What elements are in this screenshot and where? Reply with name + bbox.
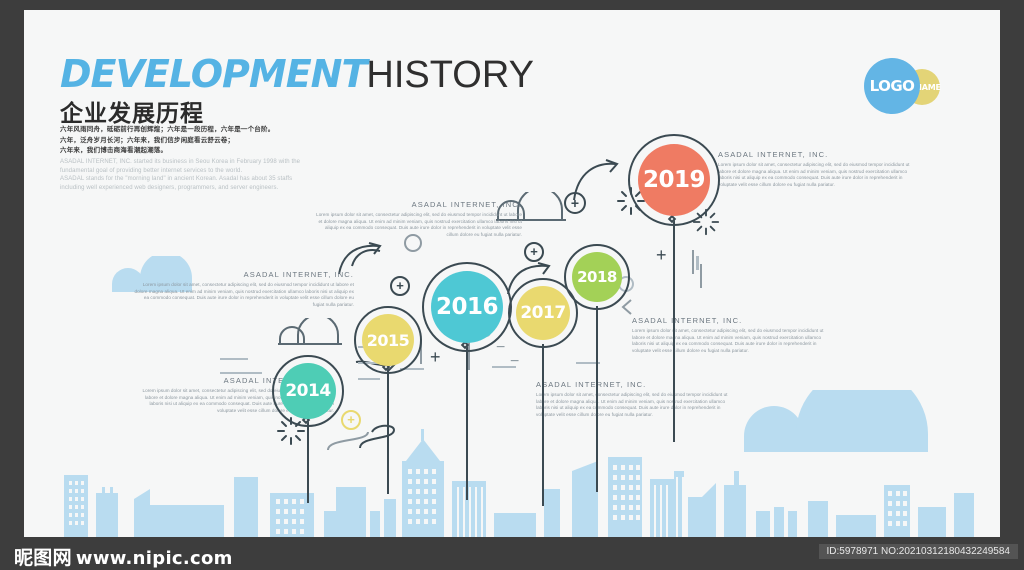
watermark: 昵图网www.nipic.com xyxy=(14,543,233,570)
intro-english: ASADAL INTERNET, INC. started its busine… xyxy=(60,158,340,192)
milestone-disc: 2015 xyxy=(362,314,414,366)
page-title: DEVELOPMENTHISTORY xyxy=(60,52,534,97)
milestone-disc: 2017 xyxy=(516,286,570,340)
milestone-2016[interactable]: 2016 xyxy=(422,262,512,502)
poster-canvas: + + + + + + − − DEVELOPMENTHISTORY 企业发展历… xyxy=(24,10,1000,537)
page-subtitle: 企业发展历程 xyxy=(60,94,204,128)
milestone-2015[interactable]: 2015 xyxy=(354,306,422,496)
intro-en-line: ASADAL INTERNET, INC. started its busine… xyxy=(60,158,340,167)
milestone-year: 2016 xyxy=(436,294,498,320)
milestone-stem xyxy=(387,368,389,494)
milestone-year: 2018 xyxy=(577,268,617,286)
watermark-url: www.nipic.com xyxy=(76,548,233,569)
milestone-year: 2017 xyxy=(520,303,565,323)
intro-chinese: 六年风雨同舟，砥砺前行再创辉煌；六年是一段历程，六年是一个台阶。 六年，泛舟岁月… xyxy=(60,125,360,157)
milestone-stem xyxy=(307,421,309,503)
logo[interactable]: NAME LOGO xyxy=(864,58,974,116)
dash-h xyxy=(220,358,248,360)
plus-icon-a: + xyxy=(564,192,586,214)
arrow-small-left xyxy=(350,246,384,270)
info-block-2019: ASADAL INTERNET, INC. Lorem ipsum dolor … xyxy=(718,150,914,188)
cloud-outline-lower xyxy=(276,318,348,348)
info-block-body: Lorem ipsum dolor sit amet, consectetur … xyxy=(314,212,522,238)
plus-icon-b: + xyxy=(524,242,544,262)
info-block-body: Lorem ipsum dolor sit amet, consectetur … xyxy=(718,162,914,188)
milestone-2019[interactable]: 2019 xyxy=(628,134,720,444)
milestone-stem xyxy=(542,344,544,506)
plus-icon-c: + xyxy=(390,276,410,296)
intro-en-line: including well experienced web designers… xyxy=(60,184,340,193)
milestone-disc: 2016 xyxy=(431,271,503,343)
watermark-cn: 昵图网 xyxy=(14,547,72,569)
milestone-year: 2015 xyxy=(367,331,410,350)
milestone-disc: 2014 xyxy=(280,363,336,419)
intro-en-line: ASADAL stands for the "morning land" in … xyxy=(60,175,340,184)
intro-cn-line: 六年风雨同舟，砥砺前行再创辉煌；六年是一段历程，六年是一个台阶。 xyxy=(60,125,360,136)
title-secondary: HISTORY xyxy=(366,54,534,96)
dash-i xyxy=(220,372,262,374)
info-block-title: ASADAL INTERNET, INC. xyxy=(718,150,914,159)
watermark-bar: 昵图网www.nipic.com ID:5978971 NO:202103121… xyxy=(0,537,1024,570)
frame-edge-top xyxy=(0,0,1024,10)
info-block-title: ASADAL INTERNET, INC. xyxy=(132,270,354,279)
cloud-right xyxy=(736,390,936,452)
asset-id-label: ID:5978971 NO:20210312180432249584 xyxy=(819,544,1019,559)
info-block-body: Lorem ipsum dolor sit amet, consectetur … xyxy=(132,282,354,308)
milestone-year: 2014 xyxy=(285,381,330,401)
milestone-stem xyxy=(596,306,598,492)
milestone-2014[interactable]: 2014 xyxy=(272,355,344,505)
milestone-stem xyxy=(673,220,675,442)
milestone-stem xyxy=(466,346,468,500)
info-block-title: ASADAL INTERNET, INC. xyxy=(314,200,522,209)
logo-text: LOGO xyxy=(870,77,915,95)
info-block-2016: ASADAL INTERNET, INC. Lorem ipsum dolor … xyxy=(314,200,522,238)
frame-edge-left xyxy=(0,0,24,570)
info-block-2015: ASADAL INTERNET, INC. Lorem ipsum dolor … xyxy=(132,270,354,308)
milestone-2018[interactable]: 2018 xyxy=(564,244,630,494)
screenshot-frame: + + + + + + − − DEVELOPMENTHISTORY 企业发展历… xyxy=(0,0,1024,570)
intro-cn-line: 六年来，我们博击商海看潮起潮落。 xyxy=(60,146,360,157)
logo-circle: LOGO xyxy=(864,58,920,114)
milestone-year: 2019 xyxy=(643,167,705,193)
frame-edge-right xyxy=(1000,0,1024,570)
intro-en-line: fundamental goal of providing better int… xyxy=(60,167,340,176)
intro-cn-line: 六年，泛舟岁月长河；六年来，我们信步闲庭看云舒云卷； xyxy=(60,136,360,147)
milestone-disc: 2019 xyxy=(638,144,710,216)
title-primary: DEVELOPMENT xyxy=(60,52,366,96)
milestone-disc: 2018 xyxy=(572,252,622,302)
